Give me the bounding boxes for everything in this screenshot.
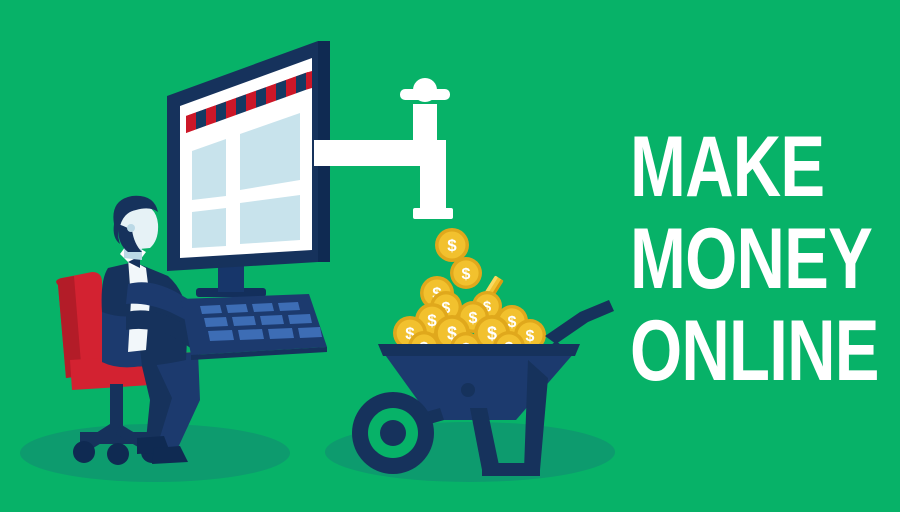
falling-coin: $ <box>435 228 469 262</box>
tap-riser <box>413 104 437 148</box>
ear <box>127 224 135 232</box>
wheelbarrow-wheel-hub <box>380 420 406 446</box>
chair-castor <box>107 443 129 465</box>
wheelbarrow-bolt <box>461 383 475 397</box>
make-money-online-illustration: $ $ $ $ $ $ $ $ $ $ <box>0 0 900 512</box>
headline-line-online: ONLINE <box>630 303 879 399</box>
coin-symbol: $ <box>462 266 471 283</box>
wheelbarrow-tray-rim <box>378 344 580 356</box>
keyboard <box>181 294 327 360</box>
tap-spout-mouth <box>413 208 453 219</box>
tap-handle-knob <box>413 78 437 102</box>
falling-coin: $ <box>450 257 482 289</box>
headline-line-money: MONEY <box>630 211 872 307</box>
headline-line-make: MAKE <box>630 119 824 215</box>
coin-symbol: $ <box>447 236 457 255</box>
illustration-canvas: $ $ $ $ $ $ $ $ $ $ <box>0 0 900 512</box>
chair-castor <box>73 441 95 463</box>
tap-spout <box>420 140 446 218</box>
coin-symbol: $ <box>526 328 535 345</box>
